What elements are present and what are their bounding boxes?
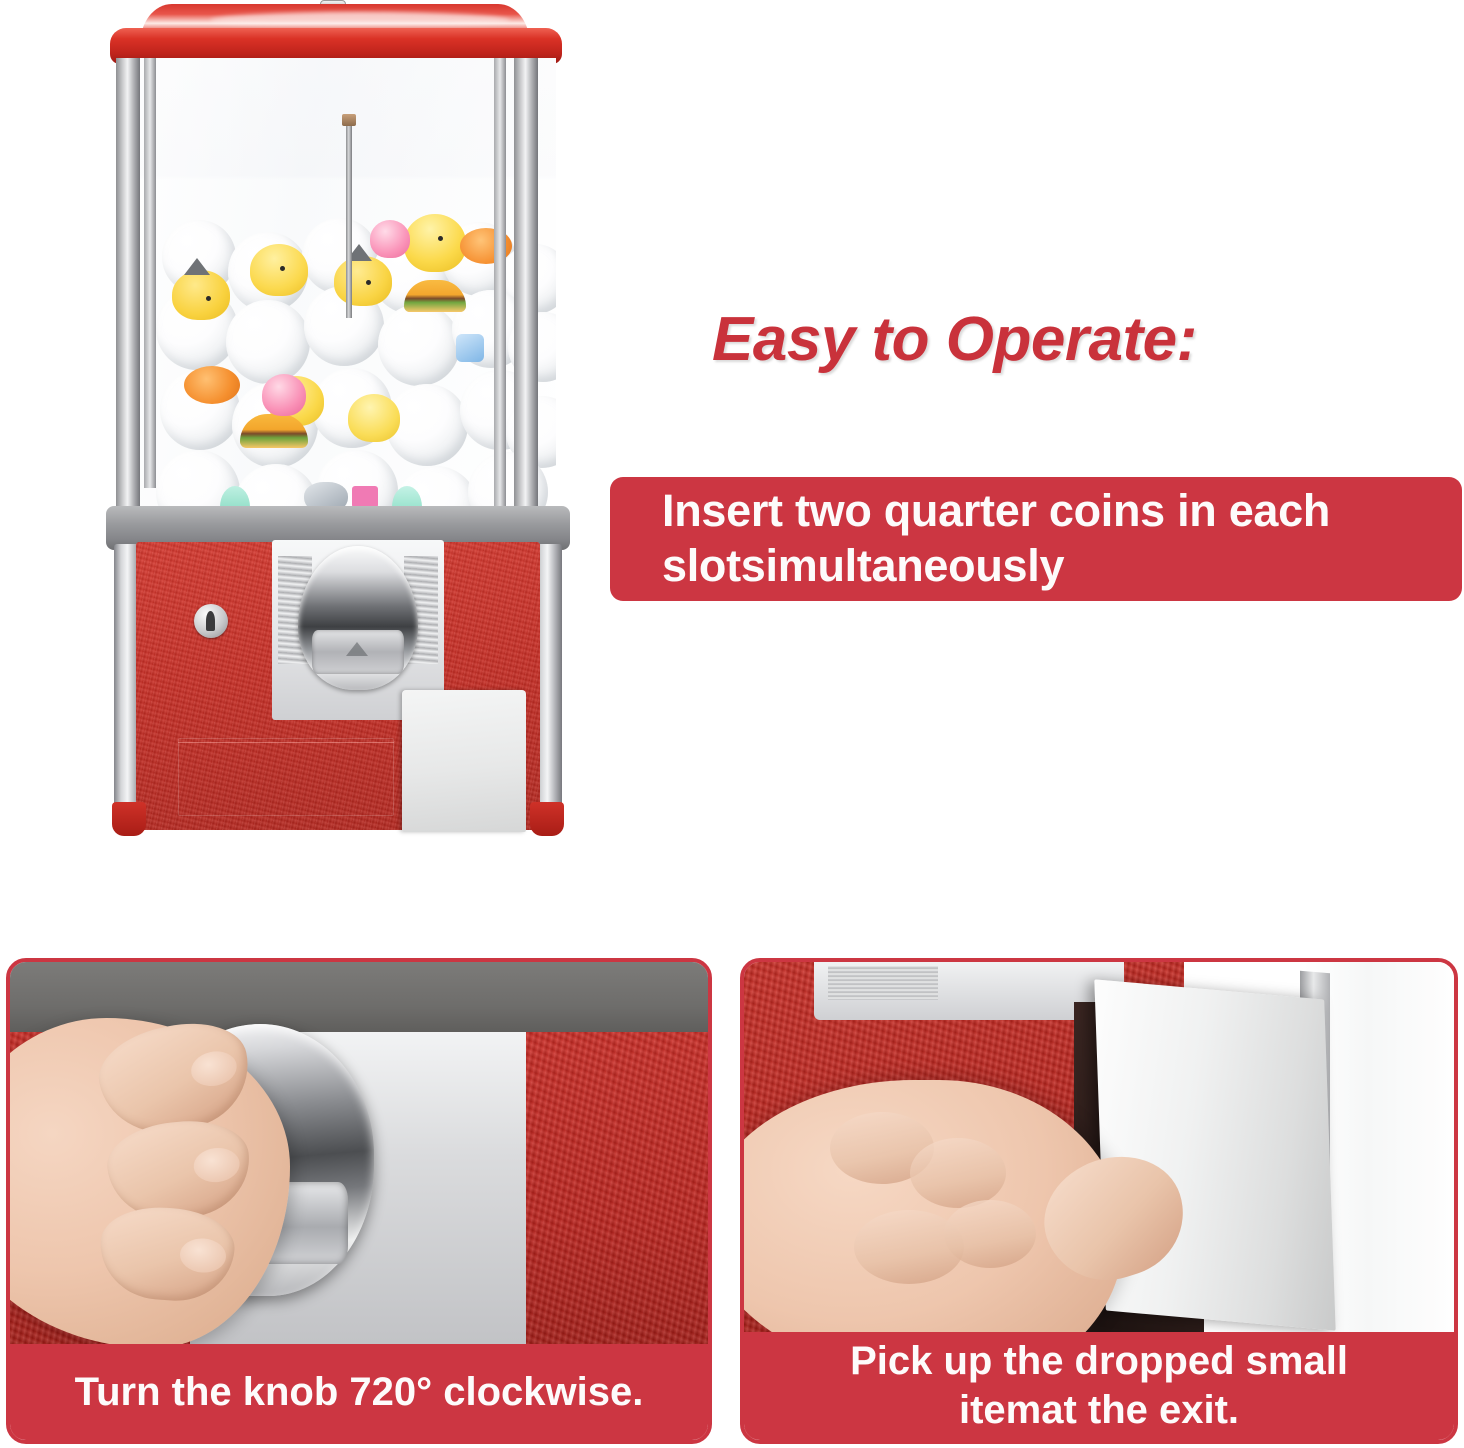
step-1-text: Insert two quarter coins in each slotsim… bbox=[610, 484, 1330, 594]
step-1-line-1: Insert two quarter coins in each bbox=[662, 484, 1330, 539]
step-2-photo bbox=[10, 962, 708, 1344]
machine-foot-left bbox=[112, 802, 146, 836]
toy-rabbit bbox=[370, 220, 410, 258]
capsule-globe bbox=[116, 58, 556, 510]
step-1-line-2: slotsimultaneously bbox=[662, 539, 1330, 594]
coin-knob bbox=[298, 546, 418, 690]
toy-rabbit bbox=[262, 374, 306, 416]
globe-post-inner-left bbox=[144, 58, 156, 488]
toy-accent bbox=[352, 486, 378, 508]
toy-accent bbox=[456, 334, 484, 362]
toy-duck bbox=[404, 214, 466, 272]
toy-duck bbox=[348, 394, 400, 442]
key-lock-icon bbox=[194, 604, 228, 638]
machine-foot-right bbox=[530, 802, 564, 836]
vending-machine-illustration bbox=[98, 0, 578, 862]
lid-highlight bbox=[210, 12, 510, 28]
dispenser-rod-cap bbox=[342, 114, 356, 126]
dispenser-rod bbox=[346, 118, 352, 318]
globe-post-left bbox=[116, 58, 140, 514]
knob-arrow-icon bbox=[346, 642, 368, 656]
machine-front-panel bbox=[136, 542, 540, 830]
exit-flap-door bbox=[402, 690, 526, 832]
top-section: Easy to Operate: Insert two quarter coin… bbox=[0, 0, 1464, 920]
step-3-caption: Pick up the dropped small itemat the exi… bbox=[744, 1332, 1454, 1440]
step-2-caption: Turn the knob 720° clockwise. bbox=[10, 1344, 708, 1440]
step-3-caption-line-1: Pick up the dropped small bbox=[850, 1337, 1348, 1386]
page-headline: Easy to Operate: bbox=[712, 304, 1197, 375]
exit-flap-door-open bbox=[1094, 979, 1335, 1330]
panel-etch-outline bbox=[178, 738, 394, 816]
step-3-panel: Pick up the dropped small itemat the exi… bbox=[740, 958, 1458, 1444]
step-1-banner: Insert two quarter coins in each slotsim… bbox=[610, 477, 1462, 601]
step-3-photo bbox=[744, 962, 1454, 1332]
finger bbox=[97, 1203, 237, 1304]
toy-duck bbox=[250, 244, 308, 296]
coin-knob-face bbox=[312, 630, 404, 674]
toy-carrot bbox=[184, 366, 240, 404]
toy-duck bbox=[334, 256, 392, 306]
globe-post-inner-right bbox=[494, 58, 506, 538]
panel-etch-line bbox=[178, 742, 394, 743]
machine-lower-body bbox=[114, 540, 562, 850]
step-2-caption-text: Turn the knob 720° clockwise. bbox=[75, 1368, 644, 1417]
toy-duck bbox=[172, 270, 230, 320]
globe-post-right bbox=[514, 58, 538, 514]
step-2-panel: Turn the knob 720° clockwise. bbox=[6, 958, 712, 1444]
step-3-caption-line-2: itemat the exit. bbox=[850, 1386, 1348, 1435]
